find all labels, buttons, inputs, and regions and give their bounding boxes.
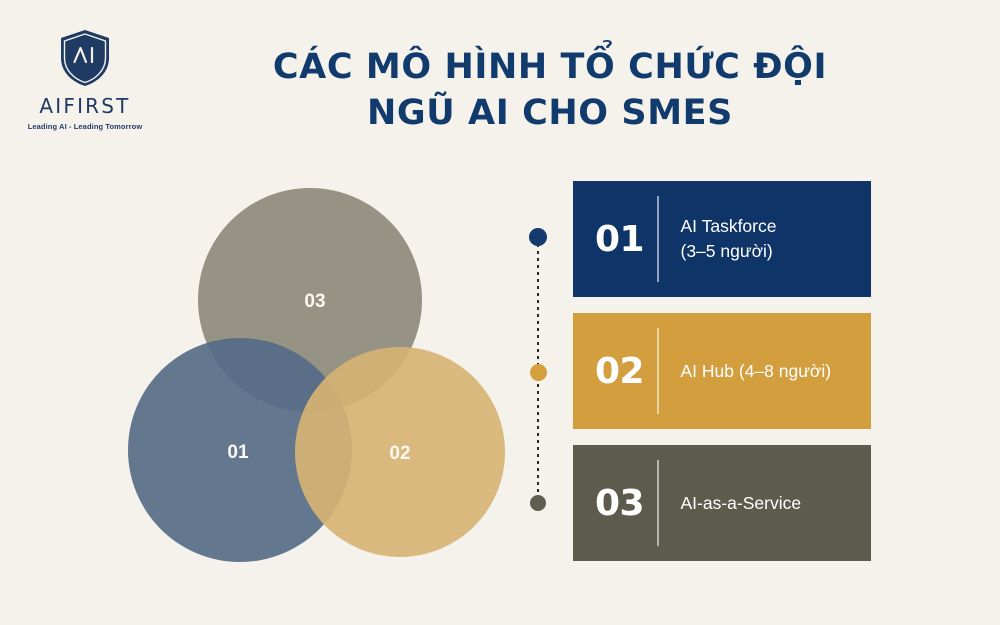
page-title-line-1: CÁC MÔ HÌNH TỔ CHỨC ĐỘI [230,44,870,90]
model-card-list: 01 AI Taskforce (3–5 người) 02 AI Hub (4… [573,181,871,561]
model-card-03-number: 03 [595,483,657,524]
page-title-line-2: NGŨ AI CHO SMES [230,90,870,136]
model-card-02-number: 02 [595,351,657,392]
venn-label-03: 03 [304,291,325,312]
connector-dot-03 [530,495,546,511]
model-card-01[interactable]: 01 AI Taskforce (3–5 người) [573,181,871,297]
model-card-03-line-1: AI-as-a-Service [681,491,802,516]
venn-label-01: 01 [227,442,249,463]
page-title: CÁC MÔ HÌNH TỔ CHỨC ĐỘI NGŨ AI CHO SMES [230,44,870,136]
connector-dot-02 [530,364,547,381]
model-card-03-text: AI-as-a-Service [681,491,802,516]
model-card-02-line-1: AI Hub (4–8 người) [681,359,832,384]
model-card-01-divider [657,196,659,282]
venn-label-02: 02 [389,443,410,464]
model-card-01-line-1: AI Taskforce [681,214,777,239]
model-card-02-divider [657,328,659,414]
model-card-03[interactable]: 03 AI-as-a-Service [573,445,871,561]
shield-ai-icon [20,28,150,88]
model-card-02-text: AI Hub (4–8 người) [681,359,832,384]
timeline-connector [529,228,547,518]
logo-wordmark: AIFIRST [20,94,150,118]
model-card-01-text: AI Taskforce (3–5 người) [681,214,777,264]
model-card-01-number: 01 [595,219,657,260]
venn-diagram: 03 01 02 [120,180,520,570]
logo-tagline: Leading AI - Leading Tomorrow [20,122,150,131]
brand-logo: AIFIRST Leading AI - Leading Tomorrow [20,28,150,131]
model-card-02[interactable]: 02 AI Hub (4–8 người) [573,313,871,429]
connector-dot-01 [529,228,547,246]
model-card-01-line-2: (3–5 người) [681,239,777,264]
model-card-03-divider [657,460,659,546]
